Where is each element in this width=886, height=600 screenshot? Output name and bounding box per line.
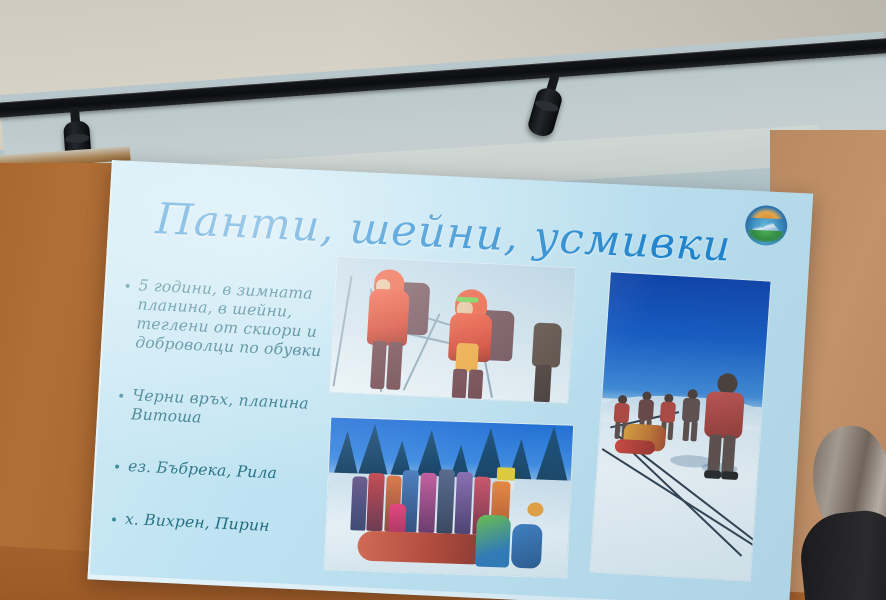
photo-sled <box>589 271 772 582</box>
boot <box>721 471 739 480</box>
sled <box>614 439 655 455</box>
trail-sign <box>497 467 516 481</box>
leg <box>452 369 468 400</box>
leg <box>370 341 387 390</box>
leg <box>707 434 722 475</box>
slide: Панти, шейни, усмивки 5 години, в зимнат… <box>89 160 813 600</box>
person <box>350 476 367 530</box>
torso <box>638 399 654 421</box>
goggles <box>456 297 478 303</box>
person-kneeling <box>475 515 511 568</box>
sled <box>357 530 480 564</box>
torso <box>614 403 630 424</box>
person-kneeling <box>511 524 543 569</box>
person <box>366 473 385 531</box>
bullet-item-3: ез. Бъбрека, Рила <box>110 457 361 488</box>
backpack <box>532 322 563 367</box>
climber-figure <box>438 284 523 403</box>
person-body <box>797 507 886 600</box>
person <box>418 473 437 533</box>
climber-figure <box>526 316 575 403</box>
person-foreground <box>697 372 750 480</box>
projection-screen-area: Панти, шейни, усмивки 5 години, в зимнат… <box>0 0 886 600</box>
bullet-item-2: Черни връх, планина Витоша <box>113 385 365 435</box>
chest-bag <box>455 343 479 372</box>
torso <box>660 401 676 423</box>
leg <box>690 421 697 441</box>
photo-group <box>323 416 574 578</box>
photo-scene: Панти, шейни, усмивки 5 години, в зимнат… <box>0 0 886 600</box>
boot <box>704 470 722 479</box>
organization-logo <box>744 204 788 246</box>
person <box>436 469 455 533</box>
climber-figure <box>354 266 435 394</box>
torso <box>682 398 701 423</box>
jacket <box>367 289 410 347</box>
leg <box>667 422 673 440</box>
leg <box>468 369 484 400</box>
logo-arc-text <box>750 207 785 220</box>
projection-screen: Панти, шейни, усмивки 5 години, в зимнат… <box>87 160 813 600</box>
audience-person <box>784 420 886 600</box>
bullet-item-4: х. Вихрен, Пирин <box>106 510 357 541</box>
leg <box>614 422 620 439</box>
photo-climbers <box>329 256 577 404</box>
logo-base-text <box>747 230 784 244</box>
torso <box>704 391 745 439</box>
leg <box>721 435 736 476</box>
leg <box>682 421 689 441</box>
person <box>454 472 473 534</box>
leg <box>534 365 552 404</box>
leg <box>386 341 403 390</box>
